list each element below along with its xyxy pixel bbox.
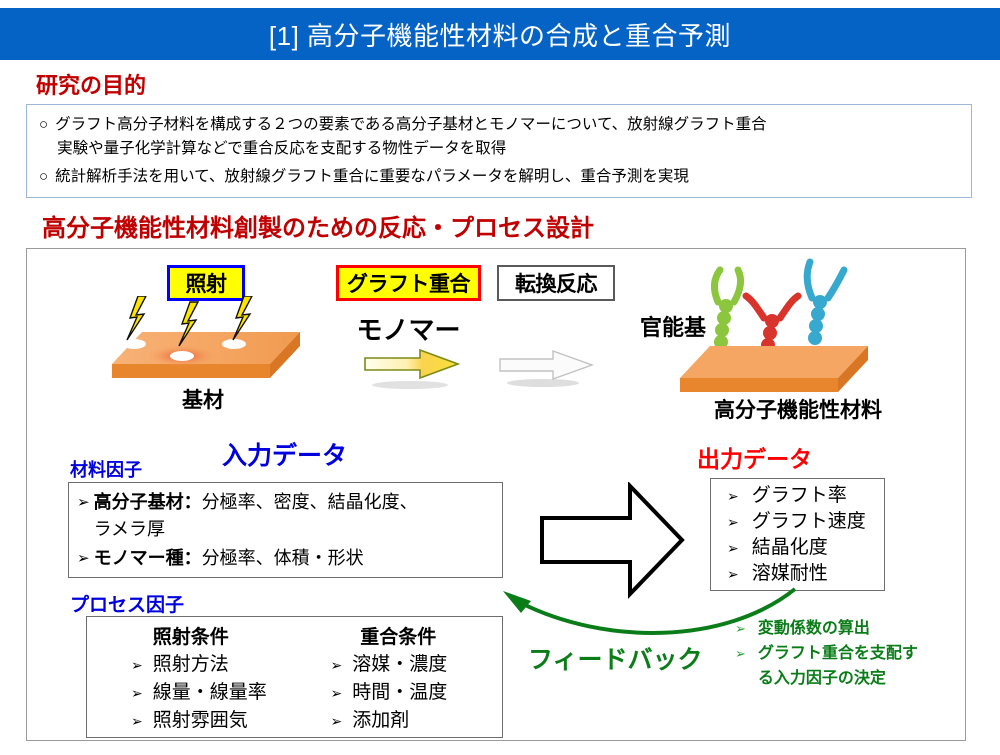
label-conversion-reaction: 転換反応 [497, 265, 615, 301]
conversion-arrow-icon [497, 350, 597, 390]
bullet-arrow-icon: ➢ [735, 616, 746, 641]
list-item-label: グラフト速度 [752, 509, 866, 535]
list-item-label: 照射方法 [153, 651, 229, 679]
list-item-label: 添加剤 [352, 707, 409, 735]
purpose-line-2: 実験や量子化学計算などで重合反応を支配する物性データを取得 [55, 137, 767, 161]
bullet-arrow-icon: ➢ [77, 545, 90, 572]
feedback-note-line-1: グラフト重合を支配す [758, 645, 918, 662]
bullet-arrow-icon: ➢ [131, 685, 143, 702]
purpose-heading: 研究の目的 [36, 68, 146, 100]
feedback-note-text: グラフト重合を支配す る入力因子の決定 [758, 641, 918, 691]
list-item: ➢ 溶媒・濃度 [295, 651, 503, 679]
bullet-arrow-icon: ➢ [727, 514, 739, 531]
feedback-note-line-2: る入力因子の決定 [758, 666, 918, 691]
material-factor-header: 材料因子 [70, 456, 142, 482]
list-item: ➢ 時間・温度 [295, 679, 503, 707]
page-title: [1] 高分子機能性材料の合成と重合予測 [269, 16, 731, 53]
feedback-label: フィードバック [528, 640, 703, 676]
material-row-text: 高分子基材：分極率、密度、結晶化度、 ラメラ厚 [94, 489, 418, 543]
section-heading: 高分子機能性材料創製のための反応・プロセス設計 [42, 208, 594, 243]
list-item-label: 時間・温度 [352, 679, 447, 707]
purpose-item-text: グラフト高分子材料を構成する２つの要素である高分子基材とモノマーについて、放射線… [55, 113, 767, 161]
material-row-value: 分極率、体積・形状 [202, 548, 364, 568]
process-factor-box: 照射条件 ➢ 照射方法 ➢ 線量・線量率 ➢ 照射雰囲気 重合条件 ➢ 溶媒・濃… [86, 616, 503, 738]
slide-title-bar: [1] 高分子機能性材料の合成と重合予測 [0, 8, 1000, 60]
bullet-arrow-icon: ➢ [331, 685, 343, 702]
output-data-header: 出力データ [697, 440, 812, 474]
purpose-item: ○ グラフト高分子材料を構成する２つの要素である高分子基材とモノマーについて、放… [39, 113, 959, 161]
bullet-circle-icon: ○ [39, 165, 48, 189]
list-item: ➢ 照射雰囲気 [87, 707, 295, 735]
input-data-header: 入力データ [222, 436, 347, 472]
material-row-label: モノマー種： [94, 548, 202, 568]
label-monomer: モノマー [336, 310, 481, 347]
irradiation-conditions-column: 照射条件 ➢ 照射方法 ➢ 線量・線量率 ➢ 照射雰囲気 [87, 617, 295, 737]
material-row-text: モノマー種：分極率、体積・形状 [94, 545, 364, 572]
list-item: ➢ 結晶化度 [711, 535, 884, 561]
bullet-arrow-icon: ➢ [727, 566, 739, 583]
monomer-arrow-icon [362, 348, 462, 390]
bullet-arrow-icon: ➢ [131, 713, 143, 730]
material-factor-box: ➢ 高分子基材：分極率、密度、結晶化度、 ラメラ厚 ➢ モノマー種：分極率、体積… [68, 482, 503, 578]
feedback-note-item: ➢ グラフト重合を支配す る入力因子の決定 [735, 641, 935, 691]
material-row: ➢ モノマー種：分極率、体積・形状 [77, 545, 496, 572]
bullet-arrow-icon: ➢ [735, 641, 746, 666]
bullet-arrow-icon: ➢ [331, 657, 343, 674]
list-item-label: グラフト率 [752, 483, 847, 509]
bullet-arrow-icon: ➢ [77, 489, 90, 516]
material-row-label: 高分子基材： [94, 492, 202, 512]
list-item: ➢ 線量・線量率 [87, 679, 295, 707]
material-row-value: 分極率、密度、結晶化度、 [202, 492, 418, 512]
feedback-note-line-1: 変動係数の算出 [758, 620, 870, 637]
purpose-line-1: 統計解析手法を用いて、放射線グラフト重合に重要なパラメータを解明し、重合予測を実… [55, 168, 689, 185]
polymerization-conditions-title: 重合条件 [295, 622, 503, 649]
label-graft-polymerization: グラフト重合 [336, 265, 481, 301]
bullet-arrow-icon: ➢ [727, 540, 739, 557]
purpose-line-1: グラフト高分子材料を構成する２つの要素である高分子基材とモノマーについて、放射線… [55, 116, 767, 133]
purpose-item: ○ 統計解析手法を用いて、放射線グラフト重合に重要なパラメータを解明し、重合予測… [39, 165, 959, 189]
green-polymer-chain [714, 270, 741, 349]
process-factor-header: プロセス因子 [70, 590, 184, 617]
blue-polymer-chain [807, 262, 844, 345]
purpose-item-text: 統計解析手法を用いて、放射線グラフト重合に重要なパラメータを解明し、重合予測を実… [55, 165, 689, 189]
material-row-cont: ラメラ厚 [94, 516, 418, 543]
list-item: ➢ 添加剤 [295, 707, 503, 735]
list-item-label: 照射雰囲気 [153, 707, 248, 735]
polymerization-conditions-column: 重合条件 ➢ 溶媒・濃度 ➢ 時間・温度 ➢ 添加剤 [295, 617, 503, 737]
list-item: ➢ 照射方法 [87, 651, 295, 679]
functional-material-illustration [672, 258, 882, 403]
material-row: ➢ 高分子基材：分極率、密度、結晶化度、 ラメラ厚 [77, 489, 496, 543]
bullet-arrow-icon: ➢ [131, 657, 143, 674]
output-data-box: ➢ グラフト率 ➢ グラフト速度 ➢ 結晶化度 ➢ 溶媒耐性 [710, 478, 885, 591]
list-item-label: 線量・線量率 [153, 679, 267, 707]
irradiation-conditions-title: 照射条件 [87, 622, 295, 649]
list-item: ➢ グラフト率 [711, 483, 884, 509]
list-item: ➢ グラフト速度 [711, 509, 884, 535]
feedback-note-text: 変動係数の算出 [758, 616, 870, 641]
bullet-arrow-icon: ➢ [727, 488, 739, 505]
radiation-bolts-icon [120, 296, 320, 352]
list-item-label: 溶媒・濃度 [352, 651, 447, 679]
feedback-notes: ➢ 変動係数の算出 ➢ グラフト重合を支配す る入力因子の決定 [735, 616, 935, 691]
bullet-circle-icon: ○ [39, 113, 48, 137]
bullet-arrow-icon: ➢ [331, 713, 343, 730]
feedback-note-item: ➢ 変動係数の算出 [735, 616, 935, 641]
purpose-box: ○ グラフト高分子材料を構成する２つの要素である高分子基材とモノマーについて、放… [26, 104, 972, 198]
list-item-label: 結晶化度 [752, 535, 828, 561]
